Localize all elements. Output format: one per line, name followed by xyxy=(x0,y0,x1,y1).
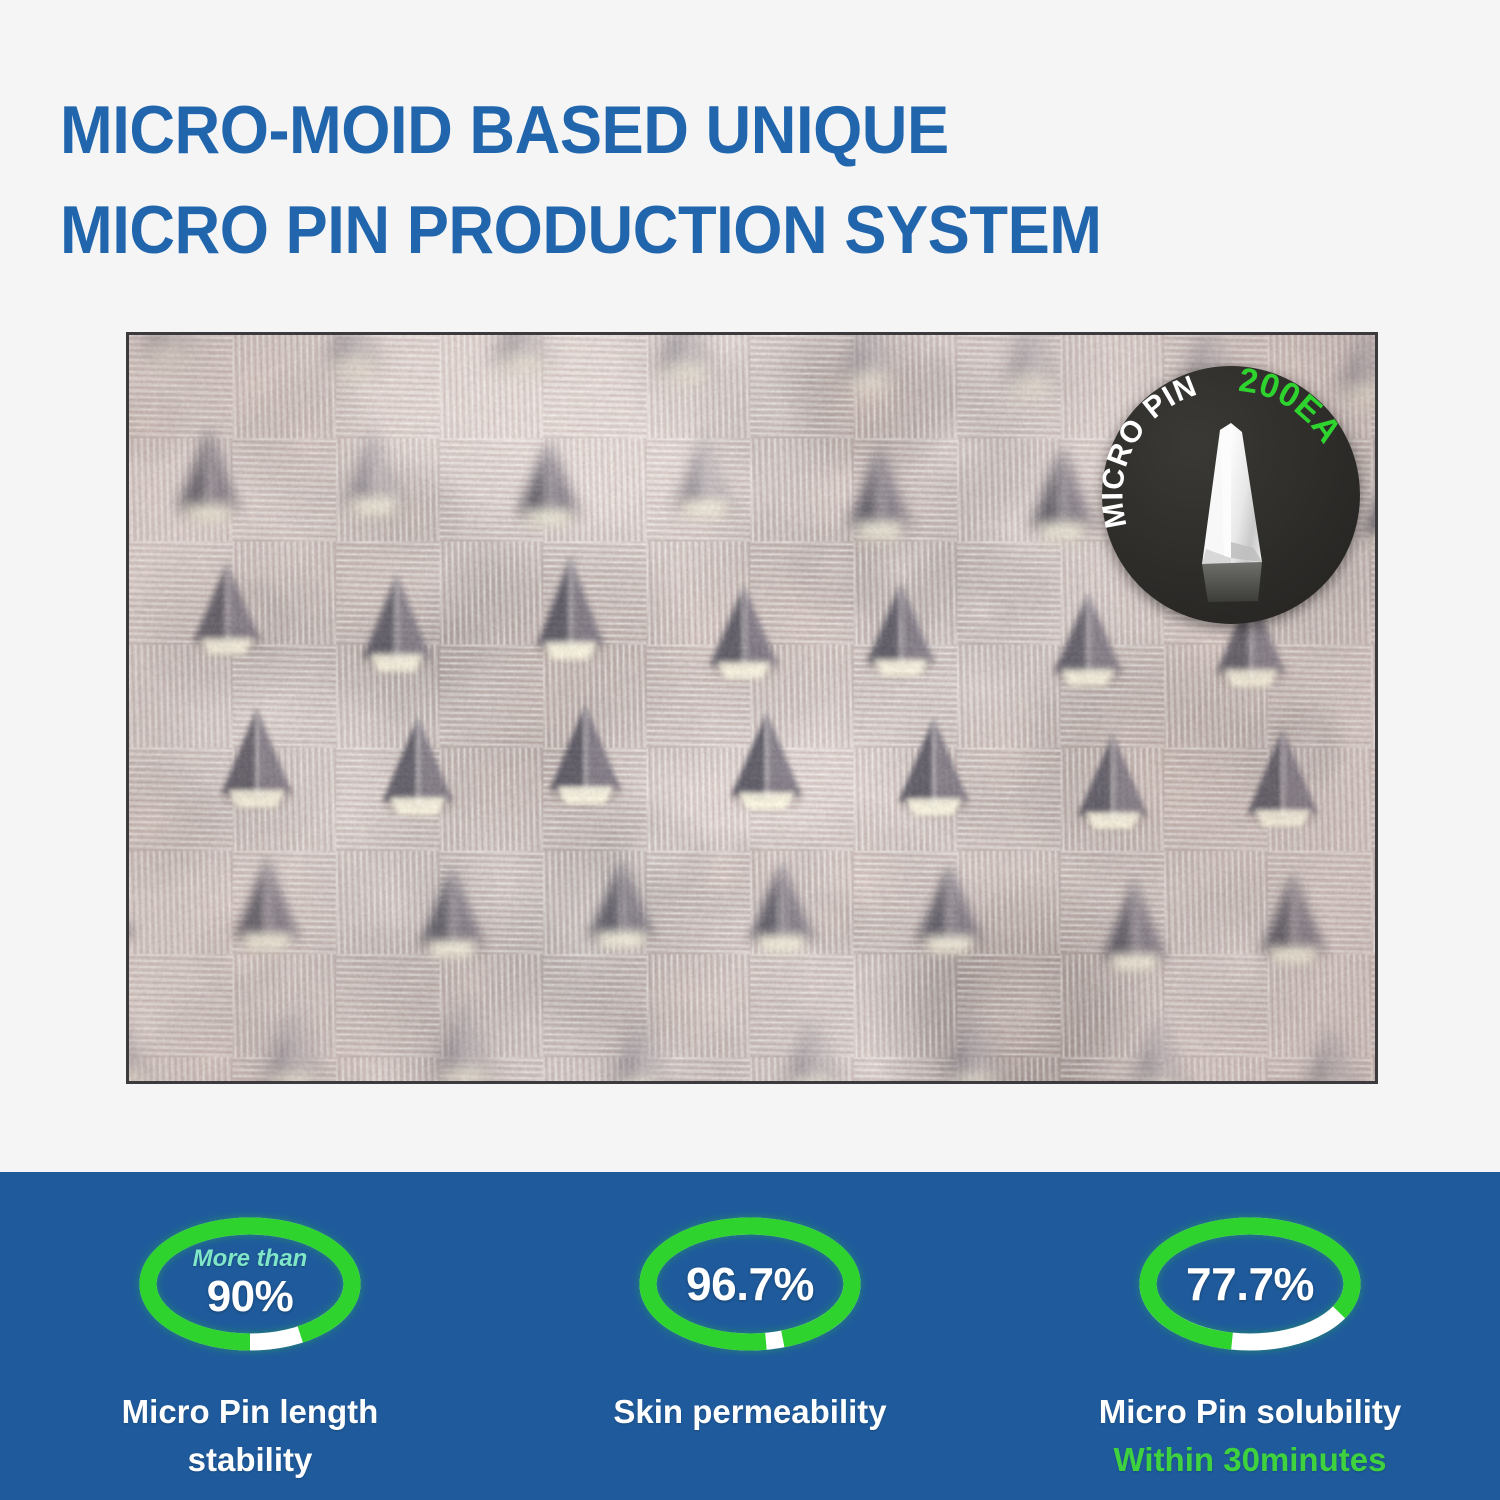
progress-ring-3-svg xyxy=(1134,1214,1366,1354)
progress-ring-2-svg xyxy=(634,1214,866,1354)
page-title-line-2: MICRO PIN PRODUCTION SYSTEM xyxy=(60,180,1343,280)
stat-card-micro-pin-solubility: 77.7% Micro Pin solubility Within 30minu… xyxy=(1000,1172,1500,1500)
progress-ring-2: 96.7% xyxy=(634,1214,866,1354)
page-title: MICRO-MOID BASED UNIQUE MICRO PIN PRODUC… xyxy=(60,80,1440,280)
progress-ring-1: More than 90% xyxy=(134,1214,366,1354)
badge-label-green: 200EA xyxy=(1236,366,1348,450)
progress-ring-1-svg xyxy=(134,1214,366,1354)
stats-row: More than 90% Micro Pin length stability… xyxy=(0,1172,1500,1500)
micro-pin-badge: MICRO PIN 200EA xyxy=(1102,366,1360,624)
page-title-line-1: MICRO-MOID BASED UNIQUE xyxy=(60,80,1343,180)
stat-caption-1-line2: stability xyxy=(30,1436,470,1484)
stat-card-skin-permeability: 96.7% Skin permeability xyxy=(500,1172,1000,1500)
badge-label-white: MICRO PIN xyxy=(1102,369,1202,530)
stats-panel: More than 90% Micro Pin length stability… xyxy=(0,1172,1500,1500)
stat-caption-3-line1: Micro Pin solubility xyxy=(1030,1388,1470,1436)
micro-pin-cone-icon xyxy=(1202,423,1262,602)
stat-caption-1-line1: Micro Pin length xyxy=(30,1388,470,1436)
stat-card-micro-pin-length-stability: More than 90% Micro Pin length stability xyxy=(0,1172,500,1500)
stat-caption-3: Micro Pin solubility Within 30minutes xyxy=(1030,1388,1470,1484)
stat-caption-1: Micro Pin length stability xyxy=(30,1388,470,1484)
stat-caption-3-sub: Within 30minutes xyxy=(1030,1436,1470,1484)
stat-caption-2: Skin permeability xyxy=(530,1388,970,1436)
badge-graphics: MICRO PIN 200EA xyxy=(1102,366,1360,624)
progress-ring-1-arc xyxy=(148,1226,352,1342)
stat-caption-2-line1: Skin permeability xyxy=(530,1388,970,1436)
progress-ring-3: 77.7% xyxy=(1134,1214,1366,1354)
progress-ring-2-arc xyxy=(648,1226,852,1342)
